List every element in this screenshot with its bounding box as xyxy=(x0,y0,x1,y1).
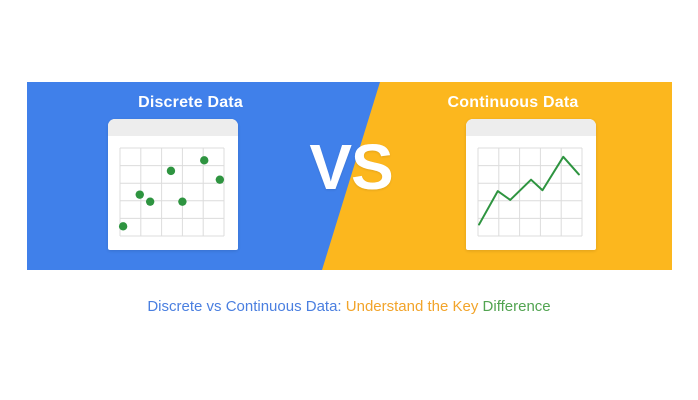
caption-part-primary: Discrete vs Continuous Data: xyxy=(147,298,341,315)
caption-part-secondary: Understand the Key xyxy=(342,298,479,315)
discrete-chart-card xyxy=(108,119,238,250)
comparison-banner: Discrete Data Continuous Data VS xyxy=(27,82,672,270)
data-point xyxy=(146,197,154,205)
data-point xyxy=(119,222,127,230)
continuous-data-title: Continuous Data xyxy=(354,94,672,112)
scatter-points xyxy=(119,156,224,230)
continuous-line-chart xyxy=(466,136,596,250)
data-line xyxy=(479,157,579,225)
versus-label: VS xyxy=(301,135,401,199)
caption-part-tertiary: Difference xyxy=(478,298,550,315)
caption: Discrete vs Continuous Data: Understand … xyxy=(0,297,698,317)
data-point xyxy=(178,197,186,205)
continuous-chart-card xyxy=(466,119,596,250)
chart-card-titlebar xyxy=(466,119,596,136)
data-point xyxy=(216,175,224,183)
discrete-data-title: Discrete Data xyxy=(27,94,354,112)
data-point xyxy=(200,156,208,164)
chart-card-titlebar xyxy=(108,119,238,136)
discrete-scatter-chart xyxy=(108,136,238,250)
data-point xyxy=(136,190,144,198)
chart-gridlines xyxy=(120,148,224,236)
data-point xyxy=(167,167,175,175)
